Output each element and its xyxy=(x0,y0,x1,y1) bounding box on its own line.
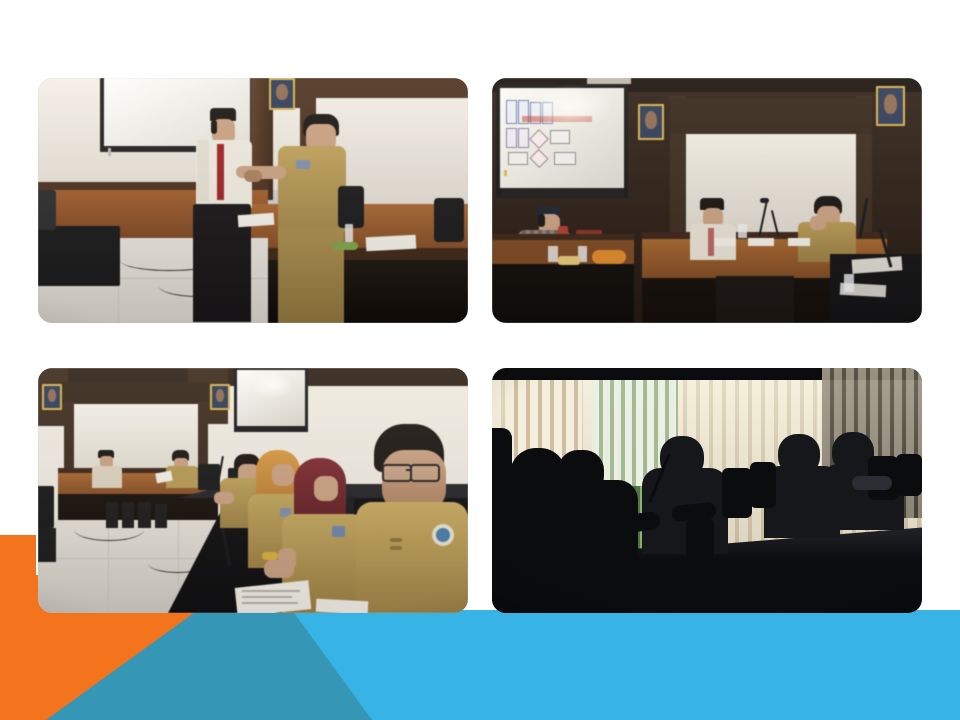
blue-bottom-band xyxy=(0,610,960,720)
teal-triangle-shape xyxy=(0,610,372,720)
photo-top-left xyxy=(38,78,468,323)
photo-bottom-right xyxy=(492,368,922,613)
photo-bottom-left xyxy=(38,368,468,613)
photo-top-right xyxy=(492,78,922,323)
slide-canvas xyxy=(0,0,960,720)
orange-corner-wedge xyxy=(0,610,198,720)
